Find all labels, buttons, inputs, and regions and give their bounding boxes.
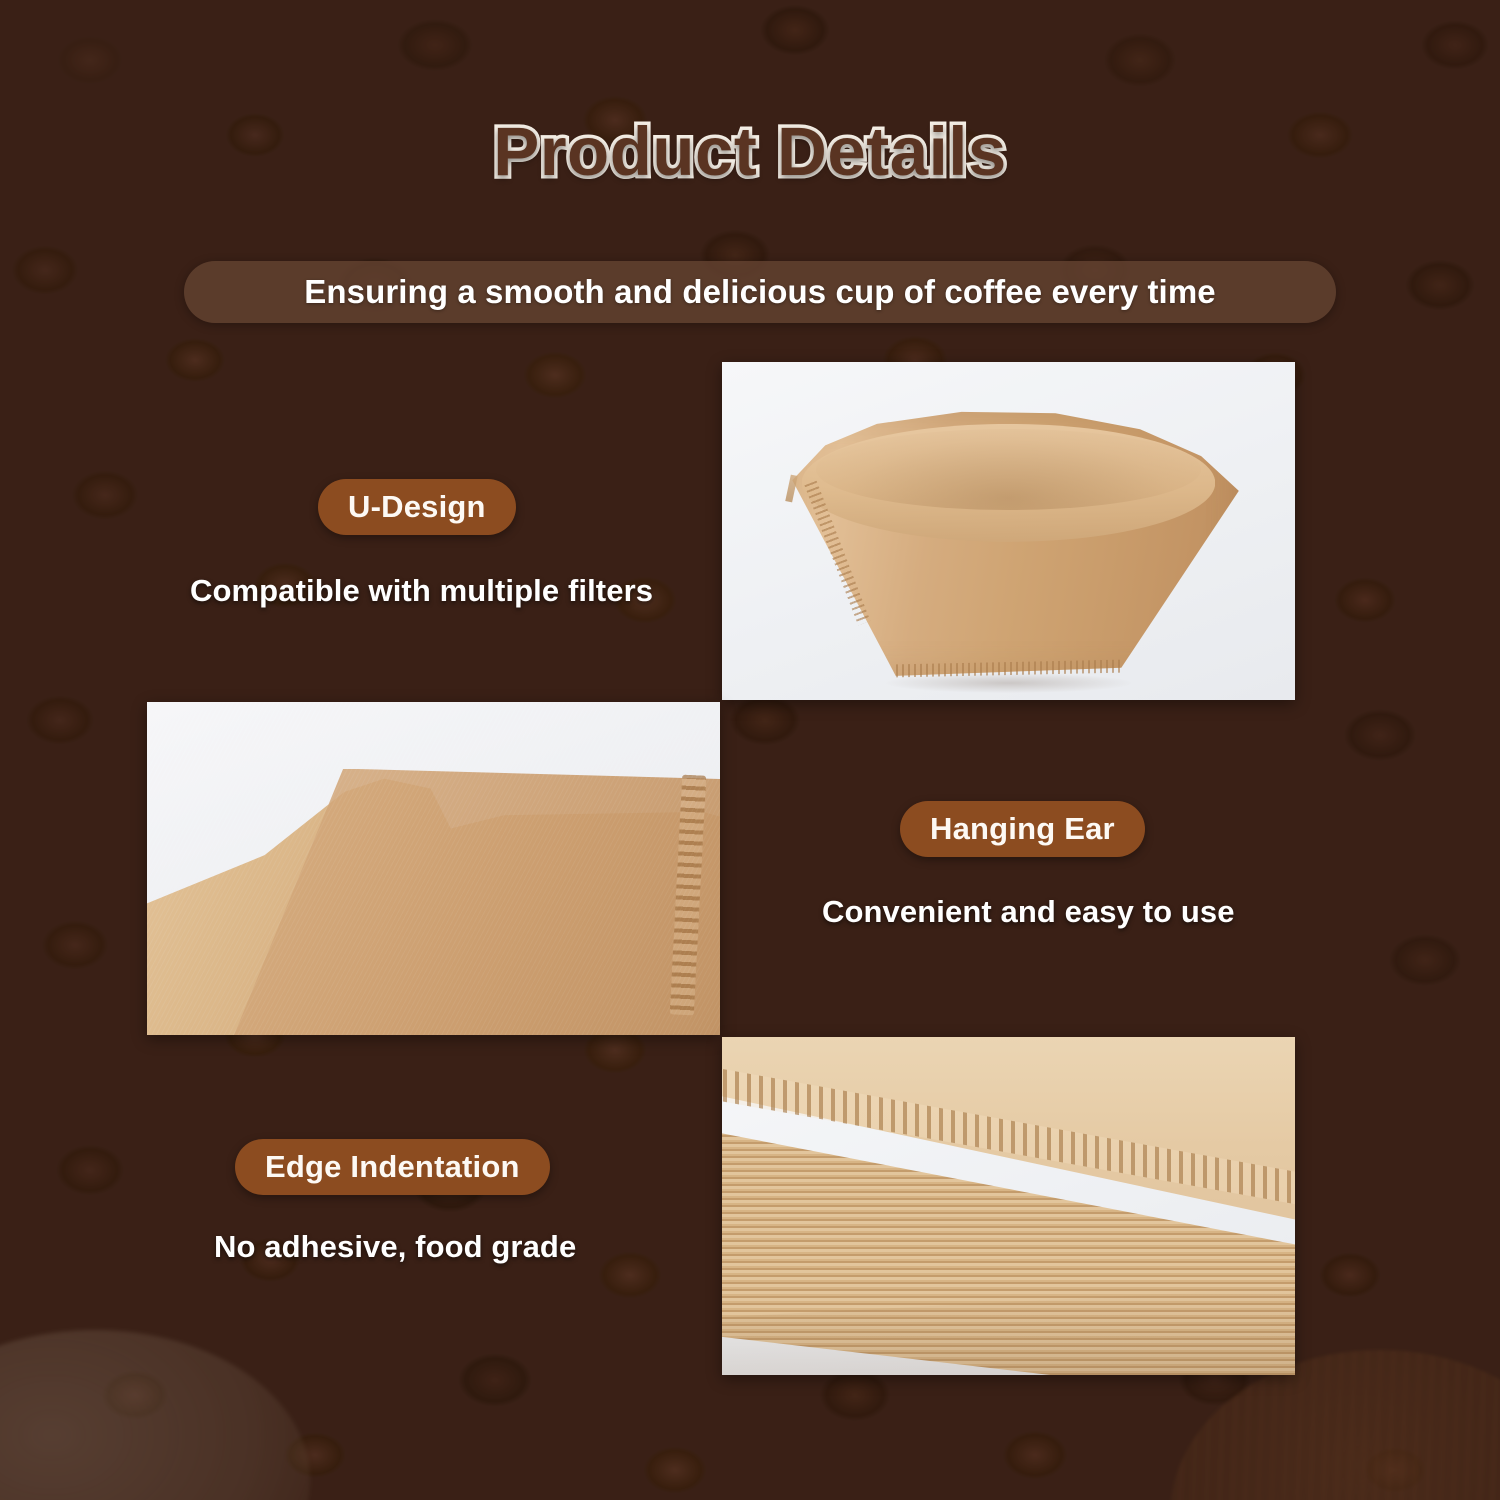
feature-image-hanging-ear xyxy=(147,702,720,1035)
feature-pill-u-design: U-Design xyxy=(318,479,516,535)
cone-filter-graphic xyxy=(774,411,1244,679)
feature-pill-hanging-ear: Hanging Ear xyxy=(900,801,1145,857)
feature-image-u-design xyxy=(722,362,1295,700)
feature-label-edge-indentation: Edge Indentation xyxy=(265,1149,520,1185)
content-layer: Product Details Ensuring a smooth and de… xyxy=(0,0,1500,1500)
paper-texture xyxy=(147,702,720,1035)
feature-label-u-design: U-Design xyxy=(348,489,486,525)
cone-drop-shadow xyxy=(886,673,1130,693)
product-details-page: Product Details Ensuring a smooth and de… xyxy=(0,0,1500,1500)
feature-image-edge-indentation xyxy=(722,1037,1295,1375)
cone-inner-shadow xyxy=(816,429,1201,509)
subtitle-text: Ensuring a smooth and delicious cup of c… xyxy=(304,273,1215,311)
feature-pill-edge-indentation: Edge Indentation xyxy=(235,1139,550,1195)
photo-hanging-ear-closeup xyxy=(147,702,720,1035)
subtitle-banner: Ensuring a smooth and delicious cup of c… xyxy=(184,261,1336,323)
page-title: Product Details xyxy=(0,112,1500,191)
cone-fold xyxy=(785,474,797,502)
feature-caption-u-design: Compatible with multiple filters xyxy=(190,573,653,609)
photo-cone-filter xyxy=(722,362,1295,700)
feature-caption-hanging-ear: Convenient and easy to use xyxy=(822,894,1235,930)
photo-filter-stack-closeup xyxy=(722,1037,1295,1375)
feature-label-hanging-ear: Hanging Ear xyxy=(930,811,1115,847)
feature-caption-edge-indentation: No adhesive, food grade xyxy=(214,1229,576,1265)
